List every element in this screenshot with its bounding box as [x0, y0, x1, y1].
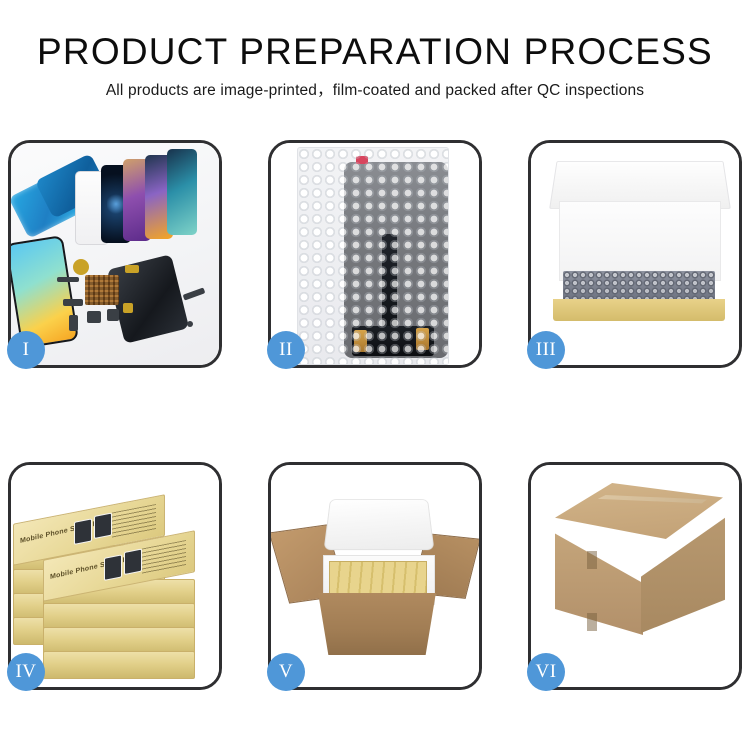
sealed-carton-photo [531, 465, 739, 687]
step-badge-1: I [7, 331, 45, 369]
step-badge-3: III [527, 331, 565, 369]
gold-connector-left-icon [354, 330, 367, 352]
button-part-icon [107, 309, 119, 321]
box-print-textlines-front [142, 540, 186, 575]
step-badge-2: II [267, 331, 305, 369]
process-step-card-2: II [268, 140, 482, 368]
box-print-textlines-rear [112, 504, 156, 539]
phone-screen-teal-icon [167, 149, 197, 235]
page-title: PRODUCT PREPARATION PROCESS [0, 30, 750, 74]
phone-back-housing-icon [107, 254, 189, 344]
step-badge-4: IV [7, 653, 45, 691]
vibrator-part-icon [87, 311, 101, 323]
step-1-image [11, 143, 219, 365]
process-step-card-5: V [268, 462, 482, 690]
flex-cable-part-icon [63, 299, 83, 306]
carton-body [313, 593, 441, 655]
step-badge-5: V [267, 653, 305, 691]
ic-chips-icon [85, 275, 119, 305]
inner-box-with-foam-photo [531, 143, 739, 365]
screw-set-icon [123, 303, 133, 313]
sealed-carton-left-face [555, 517, 643, 635]
flex-connector-icon [125, 265, 139, 273]
white-foam-sheet-icon [559, 201, 721, 281]
sealed-carton-top-face [555, 483, 723, 539]
box-print-screen-3 [104, 554, 122, 580]
product-preparation-infographic: PRODUCT PREPARATION PROCESS All products… [0, 0, 750, 750]
inner-box-front-panel [553, 299, 725, 321]
carton-seam-top [587, 551, 597, 569]
bubble-wrap-bag [297, 147, 449, 365]
process-step-card-3: III [528, 140, 742, 368]
speaker-part-icon [57, 277, 79, 282]
carton-packing-photo [271, 465, 479, 687]
tweezers-icon [183, 287, 206, 300]
step-4-image: Mobile Phone Spare Parts Mobile Phone Sp… [11, 465, 219, 687]
step-2-image [271, 143, 479, 365]
step-badge-6: VI [527, 653, 565, 691]
step-5-image [271, 465, 479, 687]
box-print-screen-2 [94, 513, 112, 539]
step-3-image [531, 143, 739, 365]
sim-tray-icon [69, 315, 78, 331]
red-label-icon [356, 156, 368, 164]
box-print-screen-1 [74, 518, 92, 544]
page-subtitle: All products are image-printed，film-coat… [0, 80, 750, 102]
screw-icon [187, 321, 193, 327]
gold-connector-right-icon [416, 328, 429, 350]
stacked-box-front-4 [43, 651, 195, 679]
box-print-screen-4 [124, 549, 142, 575]
header: PRODUCT PREPARATION PROCESS All products… [0, 0, 750, 102]
grey-bubble-wrap-icon [563, 271, 715, 301]
screen-flex-cable-icon [382, 234, 397, 340]
step-6-image [531, 465, 739, 687]
process-step-card-6: VI [528, 462, 742, 690]
bubble-wrapped-screen-photo [271, 143, 479, 365]
carton-seam-bottom [587, 613, 597, 631]
process-step-card-1: I [8, 140, 222, 368]
process-step-grid: I II [8, 140, 742, 690]
camera-lens-icon [73, 259, 89, 275]
foam-lid-icon [324, 499, 435, 550]
process-step-card-4: Mobile Phone Spare Parts Mobile Phone Sp… [8, 462, 222, 690]
phone-parts-collage-photo [11, 143, 219, 365]
stacked-boxes-photo: Mobile Phone Spare Parts Mobile Phone Sp… [11, 465, 219, 687]
box-stack: Mobile Phone Spare Parts Mobile Phone Sp… [11, 483, 219, 675]
